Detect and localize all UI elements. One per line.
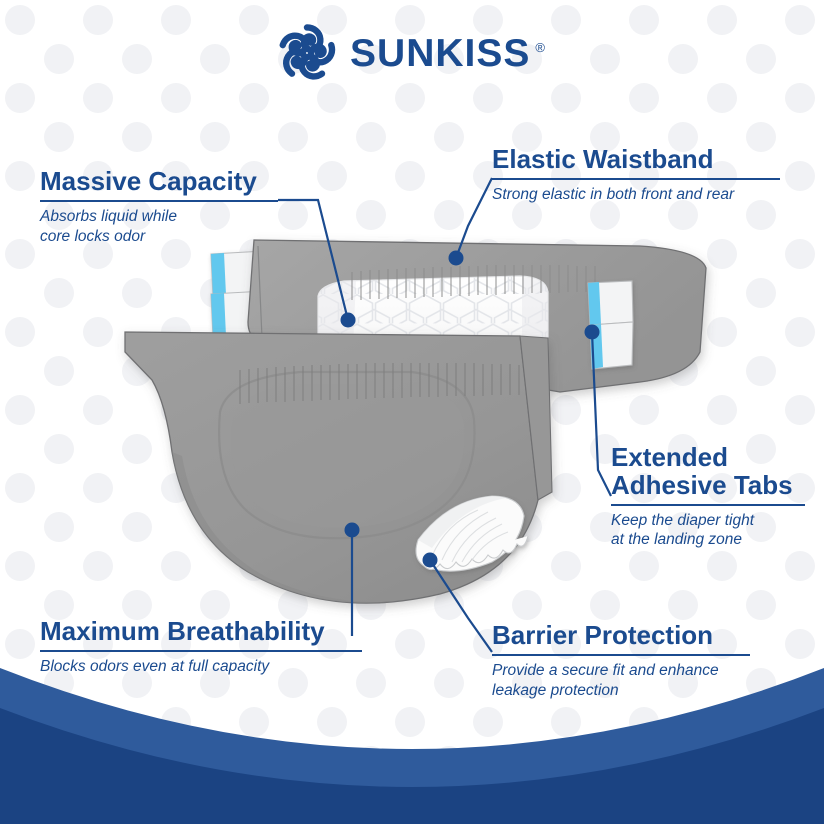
callout-subtitle-line-1: Absorbs liquid while (40, 207, 278, 227)
bottom-blue-swoosh (0, 634, 824, 824)
callout-title-elastic-waistband: Elastic Waistband (492, 146, 780, 174)
callout-title-line-1: Extended (611, 444, 805, 472)
callout-elastic-waistband: Elastic Waistband Strong elastic in both… (492, 146, 780, 205)
sunkiss-pinwheel-star-logo-icon (278, 24, 336, 82)
callout-massive-capacity: Massive Capacity Absorbs liquid while co… (40, 168, 278, 246)
infographic-canvas: SUNKISS® Massive Capacity Absorbs liquid… (0, 0, 824, 824)
callout-title-massive-capacity: Massive Capacity (40, 168, 278, 196)
callout-subtitle-line-2: at the landing zone (611, 530, 805, 550)
callout-extended-adhesive-tabs: Extended Adhesive Tabs Keep the diaper t… (611, 444, 805, 550)
callout-rule (611, 504, 805, 506)
brand-logo: SUNKISS® (0, 22, 824, 84)
adhesive-tabs-right (588, 281, 633, 369)
callout-title-line-2: Adhesive Tabs (611, 472, 805, 500)
callout-subtitle-line-2: core locks odor (40, 227, 278, 247)
callout-rule (492, 178, 780, 180)
callout-subtitle-line-1: Strong elastic in both front and rear (492, 185, 780, 205)
callout-rule (40, 200, 278, 202)
brand-name: SUNKISS (350, 32, 530, 75)
brand-wordmark: SUNKISS® (350, 34, 546, 73)
callout-subtitle-line-1: Keep the diaper tight (611, 511, 805, 531)
registered-trademark-symbol: ® (535, 40, 546, 55)
